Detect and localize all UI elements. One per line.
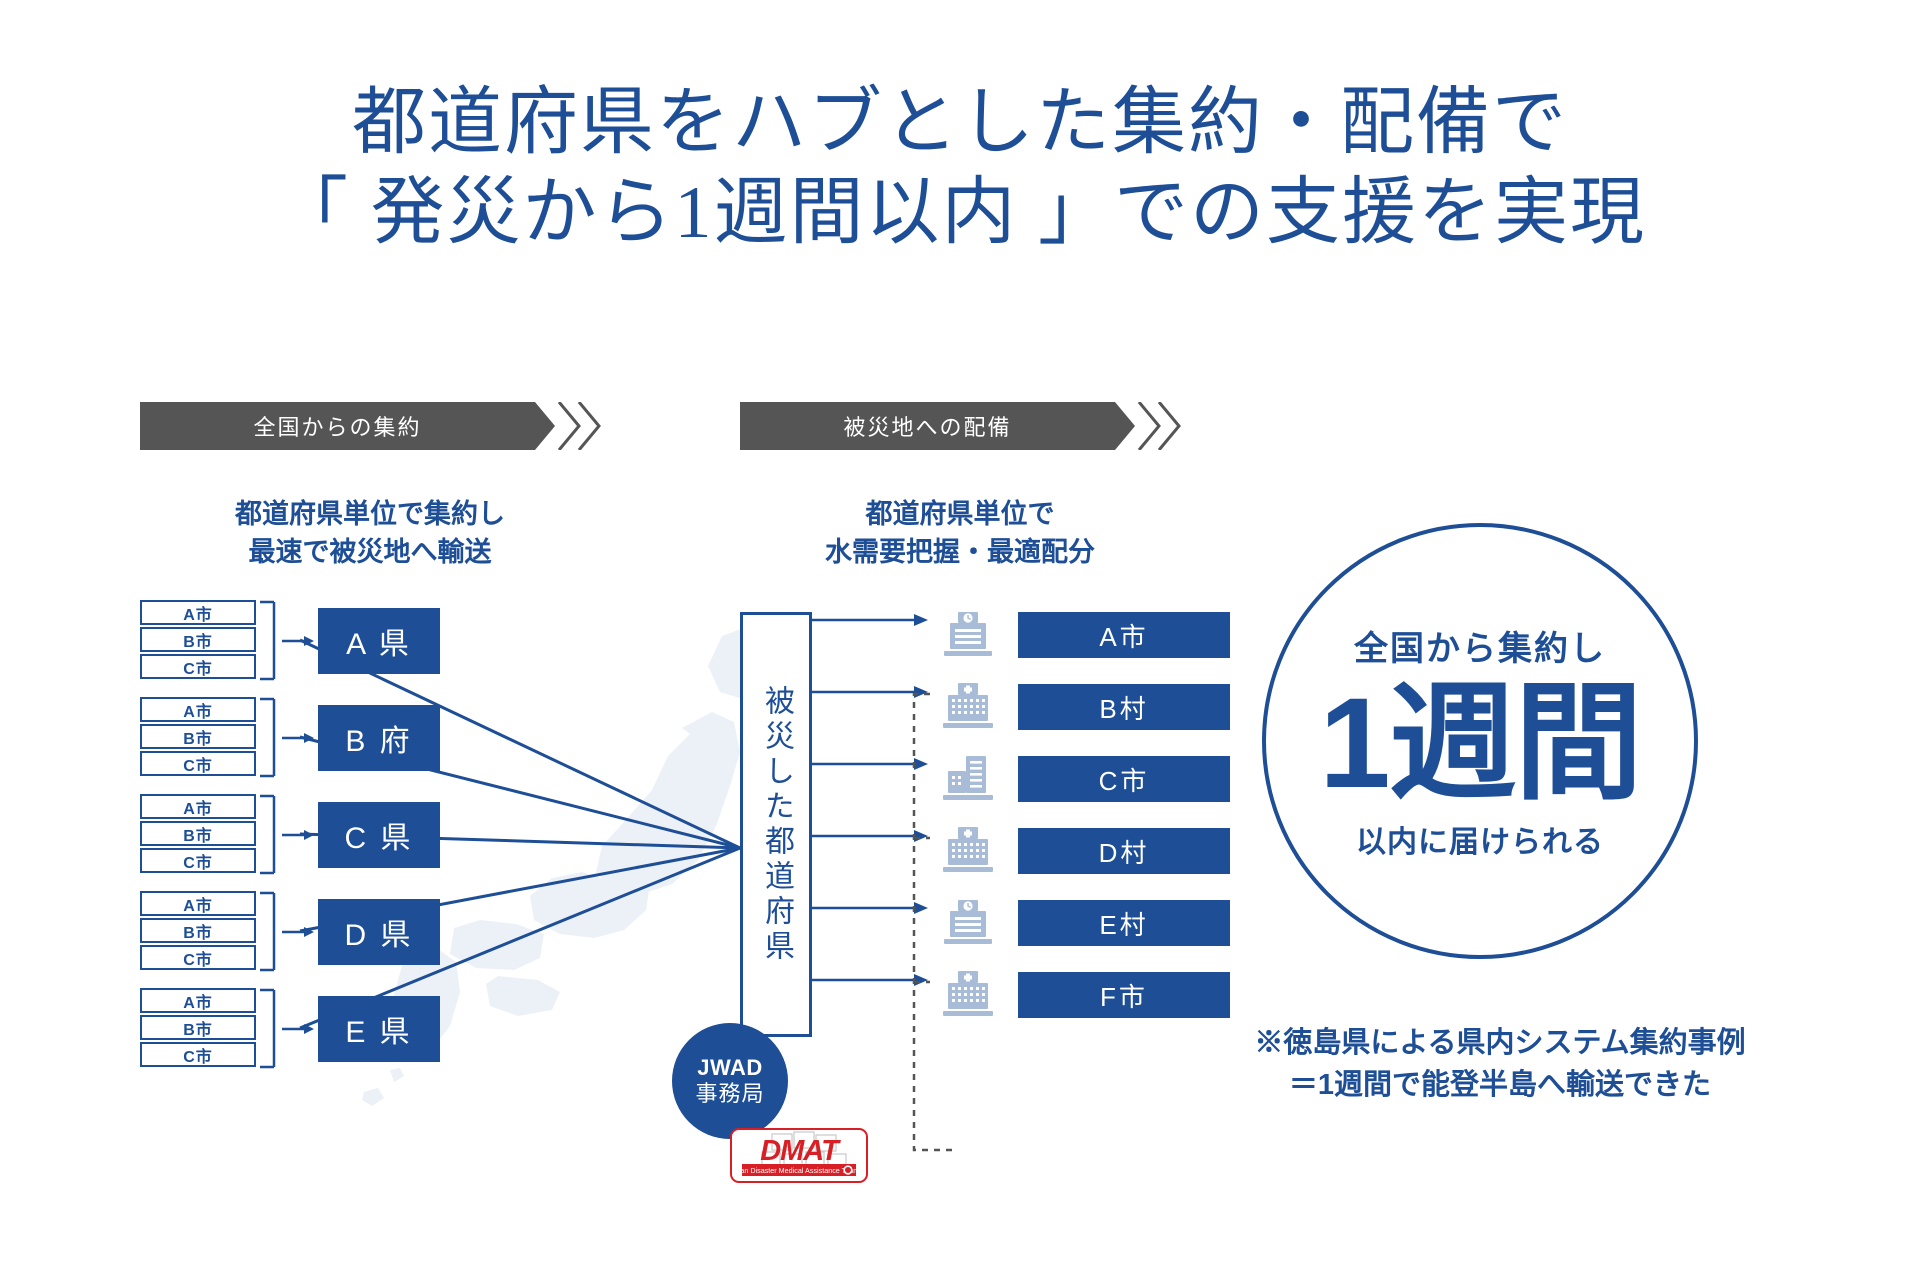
group-arrow-icon <box>282 921 316 943</box>
city-box: A市 <box>140 697 256 722</box>
badge-bottom-label: 以内に届けられる <box>1356 817 1604 861</box>
group-arrow-icon <box>282 1018 316 1040</box>
destination-row: F市 <box>940 972 1230 1018</box>
brace-icon <box>258 988 280 1069</box>
footnote: ※徳島県による県内システム集約事例 ＝1週間で能登半島へ輸送できた <box>1180 1022 1820 1106</box>
brace-icon <box>258 794 280 875</box>
prefecture-box: B 府 <box>318 705 440 771</box>
destination-row: E村 <box>940 900 1230 946</box>
brace-icon <box>258 600 280 681</box>
city-hall-clock-icon <box>940 898 996 948</box>
destination-row: A市 <box>940 612 1230 658</box>
badge-top-label: 全国から集約し <box>1354 621 1606 670</box>
group-arrow-icon <box>282 727 316 749</box>
hospital-cross-icon <box>940 970 996 1020</box>
city-hall-clock-icon <box>940 610 996 660</box>
destination-label: D村 <box>1018 828 1230 874</box>
brace-icon <box>258 891 280 972</box>
title-line-2: 「 発災から1週間以内 」での支援を実現 <box>0 168 1920 258</box>
destination-row: D村 <box>940 828 1230 874</box>
jwad-en-label: JWAD <box>697 1055 763 1081</box>
source-group: A市 B市 C市 E 県 <box>140 988 440 1076</box>
dmat-subtitle: Japan Disaster Medical Assistance Team <box>732 1166 859 1175</box>
subtitle-left: 都道府県単位で集約し 最速で被災地へ輸送 <box>140 495 600 572</box>
subtitle-right-line-1: 都道府県単位で <box>740 495 1180 533</box>
city-box: B市 <box>140 724 256 749</box>
disaster-prefecture-hub: 被災した都道府県 <box>740 612 812 1037</box>
city-box: C市 <box>140 1042 256 1067</box>
dmat-logo: DMAT Japan Disaster Medical Assistance T… <box>730 1128 868 1183</box>
banner-left: 全国からの集約 <box>140 402 535 450</box>
city-box: A市 <box>140 794 256 819</box>
page-title: 都道府県をハブとした集約・配備で 「 発災から1週間以内 」での支援を実現 <box>0 78 1920 259</box>
office-buildings-icon <box>940 754 996 804</box>
source-group: A市 B市 C市 D 県 <box>140 891 440 979</box>
source-group: A市 B市 C市 B 府 <box>140 697 440 785</box>
badge-big-label: 1週間 <box>1319 672 1640 815</box>
city-box: A市 <box>140 600 256 625</box>
banner-right: 被災地への配備 <box>740 402 1115 450</box>
city-stack: A市 B市 C市 <box>140 794 256 875</box>
subtitle-left-line-1: 都道府県単位で集約し <box>140 495 600 533</box>
prefecture-box: A 県 <box>318 608 440 674</box>
prefecture-box: D 県 <box>318 899 440 965</box>
destination-label: A市 <box>1018 612 1230 658</box>
city-stack: A市 B市 C市 <box>140 697 256 778</box>
banner-right-label: 被災地への配備 <box>843 410 1011 442</box>
group-arrow-icon <box>282 824 316 846</box>
jwad-office-badge: JWAD 事務局 <box>672 1023 788 1139</box>
destination-row: C市 <box>940 756 1230 802</box>
destination-label: F市 <box>1018 972 1230 1018</box>
subtitle-right: 都道府県単位で 水需要把握・最適配分 <box>740 495 1180 572</box>
group-arrow-icon <box>282 630 316 652</box>
destination-label: E村 <box>1018 900 1230 946</box>
prefecture-box: C 県 <box>318 802 440 868</box>
city-box: B市 <box>140 1015 256 1040</box>
city-box: C市 <box>140 654 256 679</box>
city-box: C市 <box>140 848 256 873</box>
city-box: C市 <box>140 945 256 970</box>
subtitle-left-line-2: 最速で被災地へ輸送 <box>140 533 600 571</box>
city-box: C市 <box>140 751 256 776</box>
destination-label: C市 <box>1018 756 1230 802</box>
chevron-double-right-icon-left <box>535 402 601 450</box>
city-stack: A市 B市 C市 <box>140 891 256 972</box>
brace-icon <box>258 697 280 778</box>
jwad-jp-label: 事務局 <box>695 1081 764 1107</box>
source-group: A市 B市 C市 C 県 <box>140 794 440 882</box>
source-group: A市 B市 C市 A 県 <box>140 600 440 688</box>
subtitle-right-line-2: 水需要把握・最適配分 <box>740 533 1180 571</box>
city-box: B市 <box>140 627 256 652</box>
svg-text:DMAT: DMAT <box>760 1135 841 1167</box>
banner-collection: 全国からの集約 <box>140 402 600 450</box>
title-line-1: 都道府県をハブとした集約・配備で <box>0 78 1920 168</box>
footnote-line-2: ＝1週間で能登半島へ輸送できた <box>1180 1064 1820 1106</box>
banner-left-label: 全国からの集約 <box>253 410 421 442</box>
hospital-cross-icon <box>940 826 996 876</box>
city-box: A市 <box>140 891 256 916</box>
hospital-cross-icon <box>940 682 996 732</box>
city-box: A市 <box>140 988 256 1013</box>
city-box: B市 <box>140 821 256 846</box>
city-stack: A市 B市 C市 <box>140 988 256 1069</box>
city-box: B市 <box>140 918 256 943</box>
destination-row: B村 <box>940 684 1230 730</box>
chevron-double-right-icon-right <box>1115 402 1181 450</box>
hub-label: 被災した都道府県 <box>761 685 791 965</box>
one-week-badge: 全国から集約し 1週間 以内に届けられる <box>1262 523 1698 959</box>
prefecture-box: E 県 <box>318 996 440 1062</box>
footnote-line-1: ※徳島県による県内システム集約事例 <box>1180 1022 1820 1064</box>
destination-label: B村 <box>1018 684 1230 730</box>
city-stack: A市 B市 C市 <box>140 600 256 681</box>
banner-right-wrap: 被災地への配備 <box>740 402 1180 450</box>
